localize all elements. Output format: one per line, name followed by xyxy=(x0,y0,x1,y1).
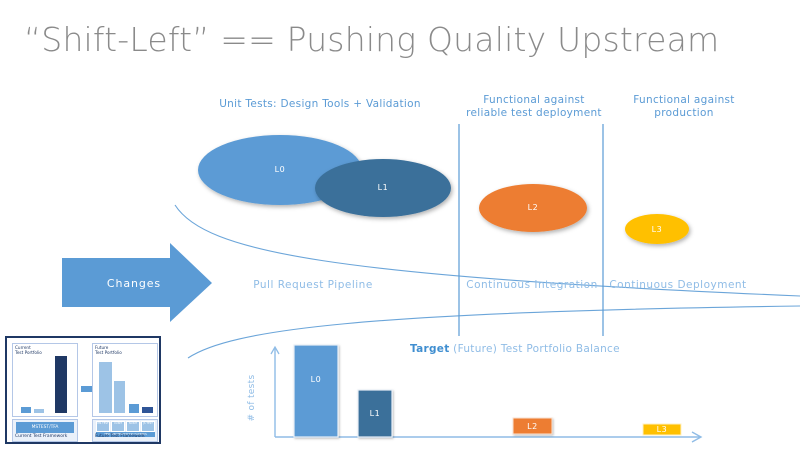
changes-arrow-label: Changes xyxy=(78,277,190,290)
thumb-right-framework-cell-2: XUNIT xyxy=(111,421,125,432)
stage-caption-continuous-integration: Continuous Integration xyxy=(462,278,602,292)
thumb-left-bar-l3 xyxy=(55,356,67,413)
bubble-l1-label: L1 xyxy=(363,183,403,192)
test-portfolio-comparison-thumbnail[interactable]: Current Test Portfolio MSTEST/TFA Curren… xyxy=(5,336,161,444)
thumb-left-framework-box: MSTEST/TFA xyxy=(16,422,74,433)
bubble-l3-label: L3 xyxy=(637,225,677,234)
thumb-right-bar-l2 xyxy=(129,404,139,413)
thumb-left-heading: Current Test Portfolio xyxy=(15,345,42,356)
thumb-right-bar-l3 xyxy=(142,407,153,413)
chart-y-axis-label: # of tests xyxy=(247,368,257,428)
thumb-left-framework-caption: Current Test Framework xyxy=(15,434,67,439)
thumb-right-framework-cell-4: JS TEST xyxy=(141,421,155,432)
chart-x-axis-arrow xyxy=(692,432,701,442)
caption-unit-tests: Unit Tests: Design Tools + Validation xyxy=(196,98,444,111)
thumb-right-bar-l0 xyxy=(99,362,112,413)
bubble-l2-label: L2 xyxy=(513,203,553,212)
slide-canvas: “Shift-Left” == Pushing Quality Upstream xyxy=(0,0,800,450)
chart-y-axis-arrow xyxy=(271,347,279,354)
thumb-right-heading: Future Test Portfolio xyxy=(95,345,122,356)
chart-bar-label-l3: L3 xyxy=(643,425,681,434)
chart-title-rest: (Future) Test Portfolio Balance xyxy=(450,343,620,355)
stage-caption-pull-request-pipeline: Pull Request Pipeline xyxy=(228,278,398,292)
thumb-left-bar-l1 xyxy=(34,409,44,413)
bubble-l0-label: L0 xyxy=(260,165,300,174)
thumb-right-framework-caption: Future Test Framework xyxy=(95,434,145,439)
chart-bar-l0 xyxy=(294,345,338,437)
chart-title: Target (Future) Test Portfolio Balance xyxy=(410,343,620,355)
stage-caption-continuous-deployment: Continuous Deployment xyxy=(604,278,752,292)
chart-bar-label-l1: L1 xyxy=(358,409,392,418)
chart-bar-label-l2: L2 xyxy=(513,422,552,431)
thumb-left-bar-l0 xyxy=(21,407,31,413)
thumb-right-bar-l1 xyxy=(114,381,125,413)
caption-functional-production: Functional against production xyxy=(612,94,756,120)
chart-bar-label-l0: L0 xyxy=(294,375,338,384)
thumb-right-framework-cell-1: MS TEST xyxy=(96,421,110,432)
chart-title-bold: Target xyxy=(410,343,450,355)
thumb-right-framework-cell-3: NUNIT xyxy=(126,421,140,432)
page-title: “Shift-Left” == Pushing Quality Upstream xyxy=(24,20,764,59)
caption-functional-reliable: Functional against reliable test deploym… xyxy=(466,94,602,120)
